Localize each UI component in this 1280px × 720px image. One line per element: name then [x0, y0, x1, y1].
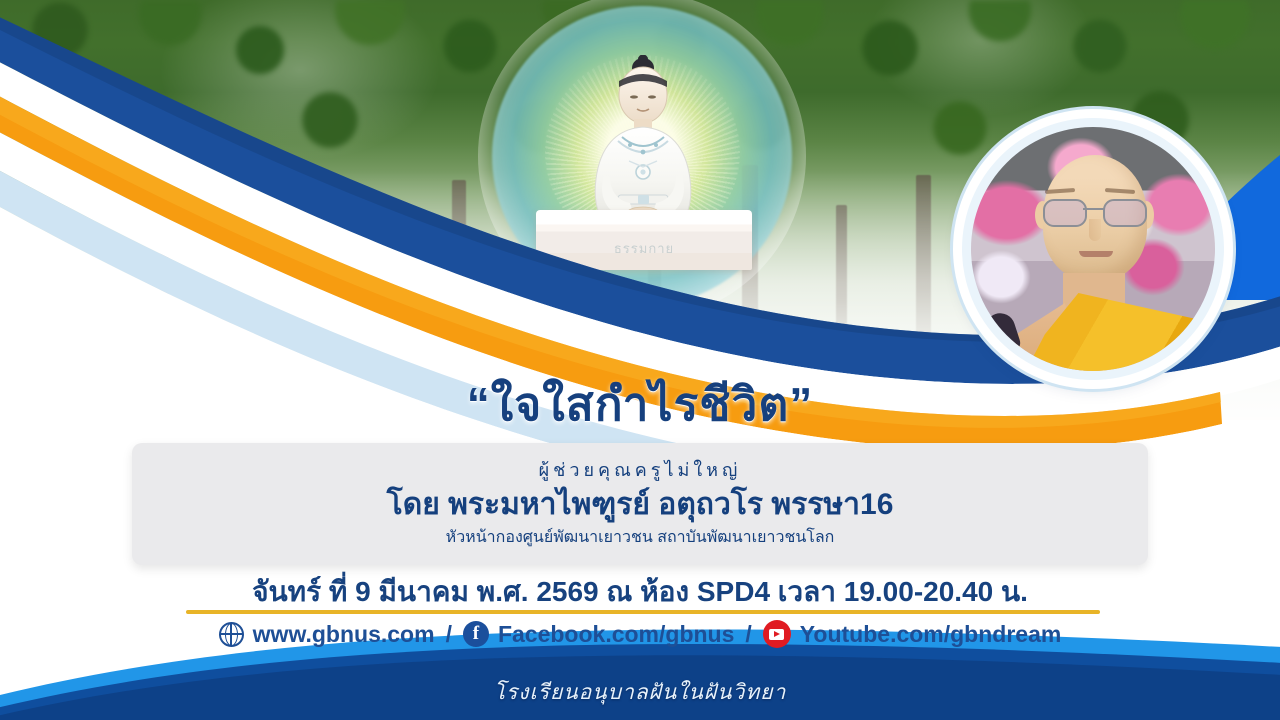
facebook-link[interactable]: Facebook.com/gbnus [498, 623, 734, 646]
youtube-icon [763, 620, 791, 648]
social-links-bar: www.gbnus.com / f Facebook.com/gbnus / Y… [0, 620, 1280, 648]
speaker-avatar [962, 118, 1224, 380]
speaker-position: หัวหน้ากองศูนย์พัฒนาเยาวชน สถาบันพัฒนาเย… [132, 525, 1148, 550]
speaker-name: โดย พระมหาไพฑูรย์ อตุถวโร พรรษา16 [132, 481, 1148, 528]
facebook-icon: f [463, 621, 489, 647]
page-title: “ใจใสกำไรชีวิต” [0, 368, 1280, 441]
signature-text: โรงเรียนอนุบาลฝันในฝันวิทยา [0, 676, 1280, 709]
globe-icon [219, 622, 244, 647]
monk-portrait-photo [971, 127, 1215, 371]
separator-1: / [446, 621, 452, 648]
youtube-link[interactable]: Youtube.com/gbndream [800, 623, 1062, 646]
schedule-line: จันทร์ ที่ 9 มีนาคม พ.ศ. 2569 ณ ห้อง SPD… [0, 570, 1280, 614]
speaker-role: ผู้ช่วยคุณครูไม่ใหญ่ [132, 455, 1148, 484]
speaker-card: ผู้ช่วยคุณครูไม่ใหญ่ โดย พระมหาไพฑูรย์ อ… [132, 443, 1148, 565]
divider-rule [186, 610, 1100, 614]
separator-2: / [745, 621, 751, 648]
website-link[interactable]: www.gbnus.com [253, 623, 435, 646]
poster-canvas: ธรรมกาย [0, 0, 1280, 720]
